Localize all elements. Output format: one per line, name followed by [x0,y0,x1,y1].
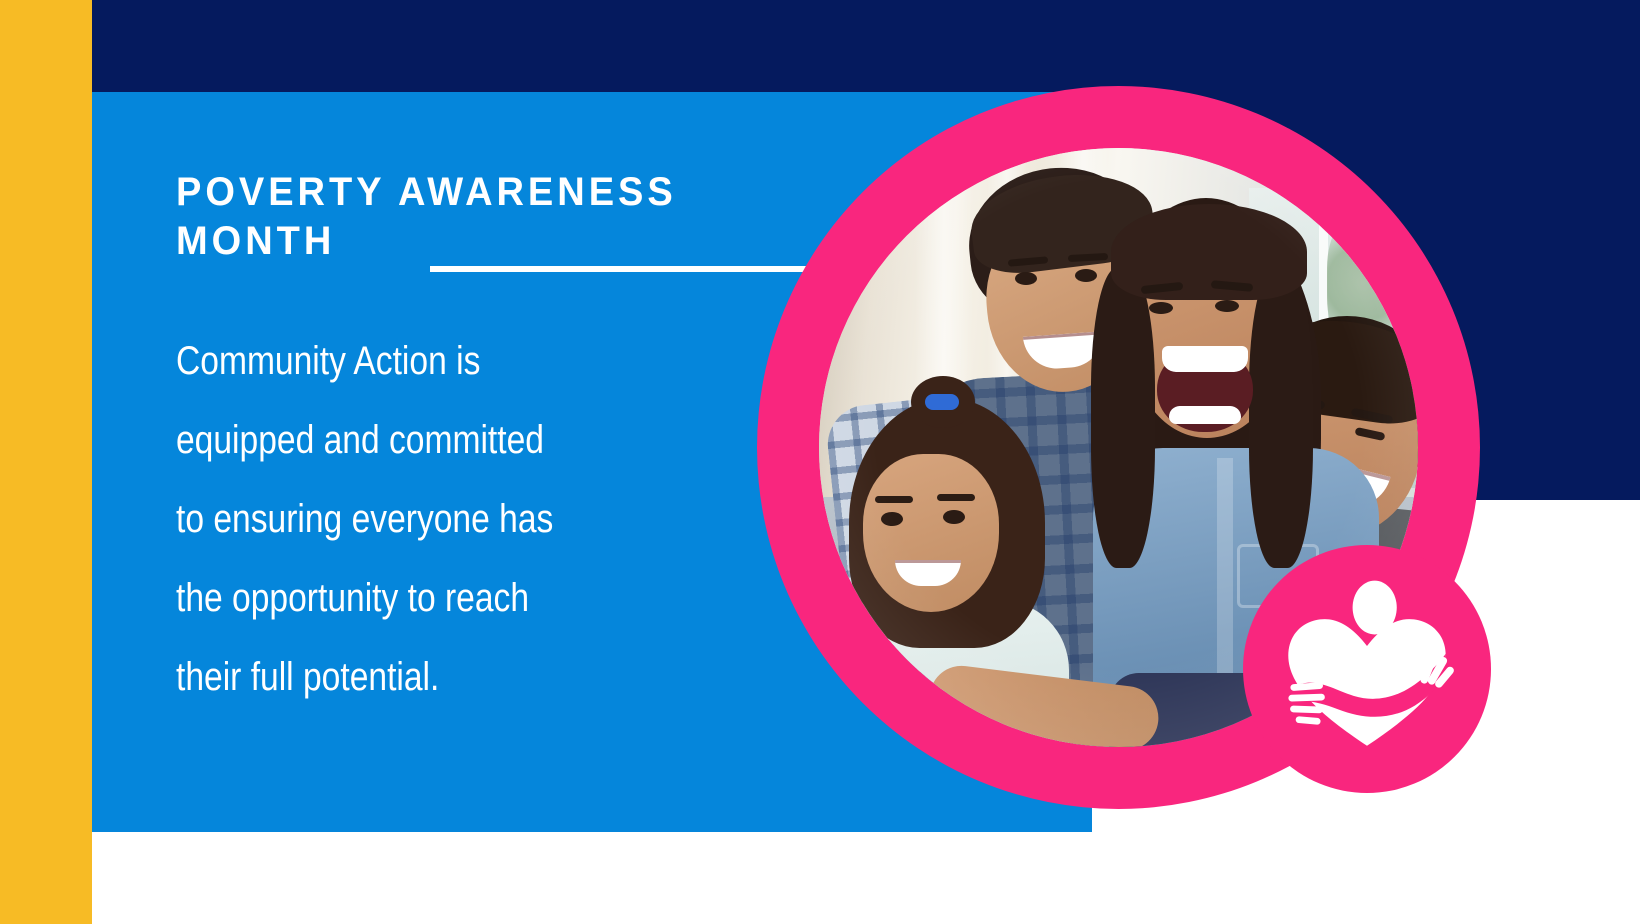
headline-block: POVERTY AWARENESS MONTH [176,168,816,266]
horizontal-rule-icon [430,266,816,272]
body-copy-line: to ensuring everyone has [176,480,571,559]
body-copy-line: their full potential. [176,638,571,717]
page-title-line-2: MONTH [176,217,784,266]
body-copy-line: Community Action is [176,322,571,401]
poster-canvas: POVERTY AWARENESS MONTH Community Action… [0,0,1640,924]
body-copy-line: equipped and committed [176,401,571,480]
yellow-accent-bar [0,0,92,924]
page-title: POVERTY AWARENESS MONTH [176,168,784,266]
body-copy-line: the opportunity to reach [176,559,571,638]
body-copy: Community Action is equipped and committ… [176,322,571,717]
heart-hands-icon [1271,573,1463,765]
page-title-line-1: POVERTY AWARENESS [176,170,677,214]
community-action-logo [1243,545,1491,793]
